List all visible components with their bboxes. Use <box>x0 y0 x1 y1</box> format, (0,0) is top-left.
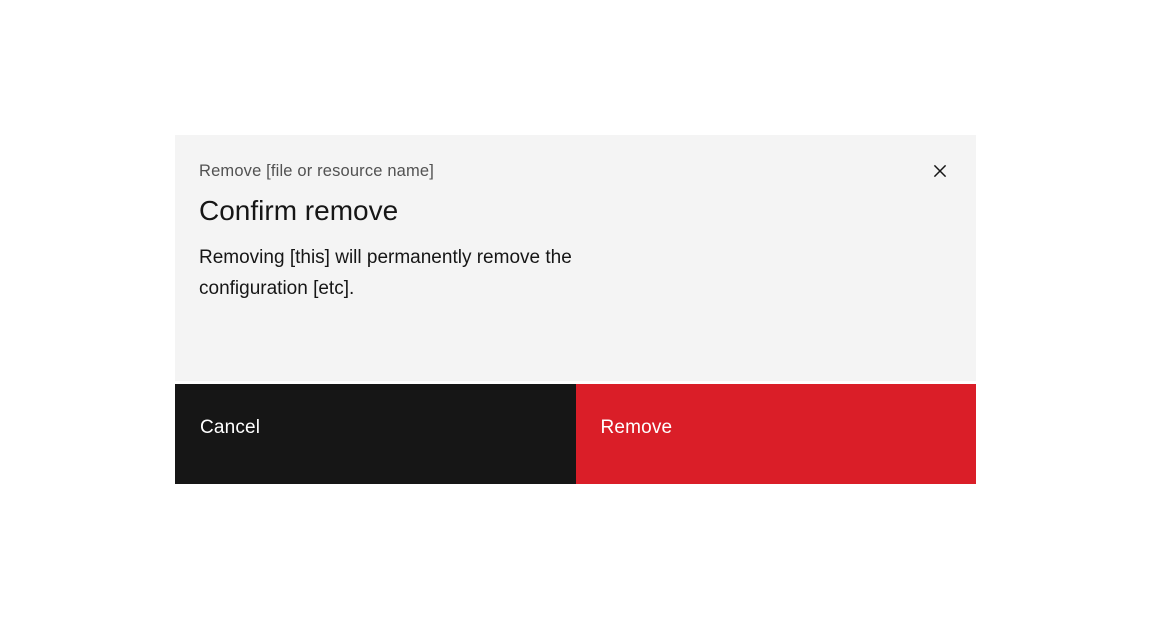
modal-body-area: Remove [file or resource name] Confirm r… <box>175 135 976 381</box>
modal-footer: Cancel Remove <box>175 384 976 484</box>
modal-heading: Confirm remove <box>199 193 960 229</box>
modal-body-text: Removing [this] will permanently remove … <box>199 242 679 304</box>
modal-label: Remove [file or resource name] <box>199 159 960 182</box>
cancel-button[interactable]: Cancel <box>175 384 576 484</box>
modal-header: Remove [file or resource name] Confirm r… <box>175 135 976 229</box>
close-button[interactable] <box>920 151 960 191</box>
page-background: Remove [file or resource name] Confirm r… <box>0 0 1152 618</box>
modal-content: Removing [this] will permanently remove … <box>175 229 976 304</box>
confirm-remove-modal: Remove [file or resource name] Confirm r… <box>175 135 976 484</box>
remove-button[interactable]: Remove <box>576 384 977 484</box>
close-icon <box>930 161 950 181</box>
